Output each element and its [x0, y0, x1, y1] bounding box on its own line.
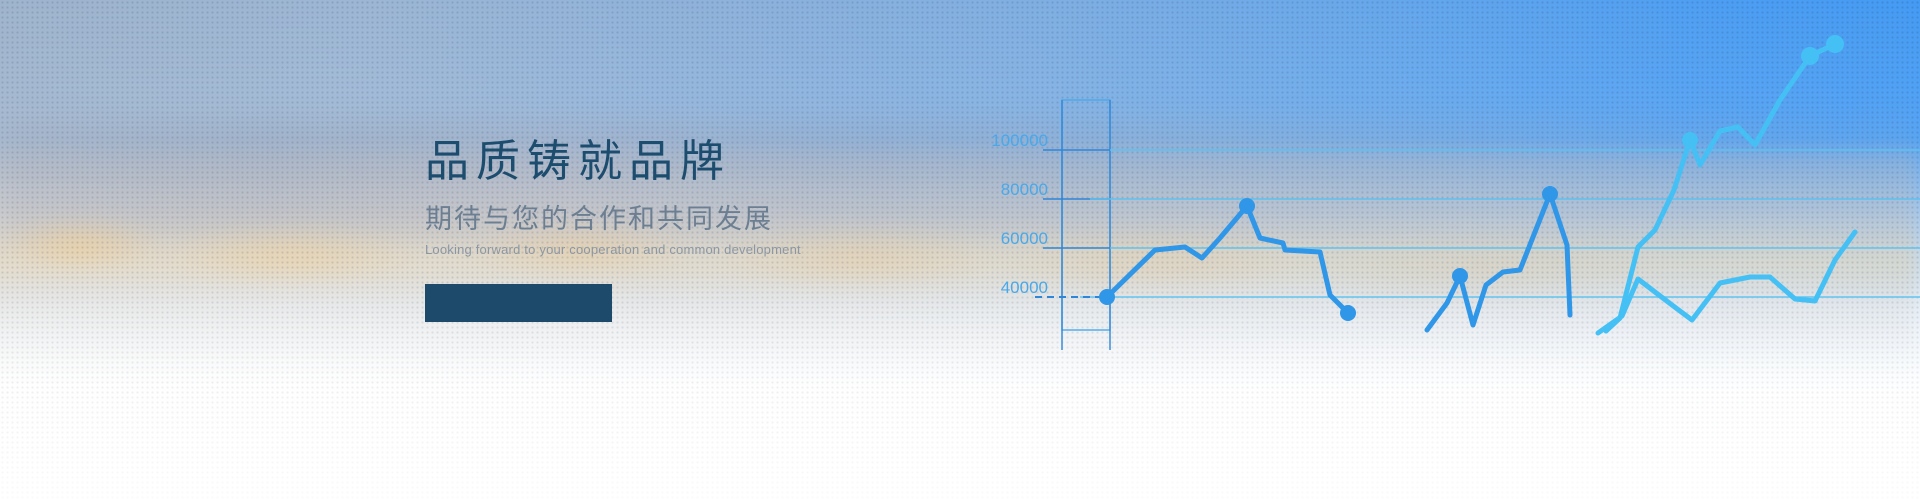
y-tick-label: 100000	[991, 131, 1048, 150]
chart-series-2	[1427, 186, 1570, 330]
line-chart: 100000 80000 60000 40000	[930, 0, 1920, 500]
page-subtitle: 期待与您的合作和共同发展	[425, 206, 945, 233]
chart-series-1	[1099, 198, 1356, 321]
y-axis-tick-labels: 100000 80000 60000 40000	[991, 131, 1048, 297]
y-tick-label: 60000	[1001, 229, 1048, 248]
chart-svg: 100000 80000 60000 40000	[930, 0, 1920, 500]
hero-banner: 品质铸就品牌 期待与您的合作和共同发展 Looking forward to y…	[0, 0, 1920, 500]
axis-frame	[1043, 100, 1110, 350]
hero-copy-block: 品质铸就品牌 期待与您的合作和共同发展 Looking forward to y…	[425, 140, 945, 322]
page-subtitle-english: Looking forward to your cooperation and …	[425, 243, 945, 256]
page-title: 品质铸就品牌	[425, 140, 945, 184]
cta-button[interactable]	[425, 284, 612, 322]
chart-series-3	[1606, 35, 1844, 331]
y-tick-label: 40000	[1001, 278, 1048, 297]
y-tick-label: 80000	[1001, 180, 1048, 199]
